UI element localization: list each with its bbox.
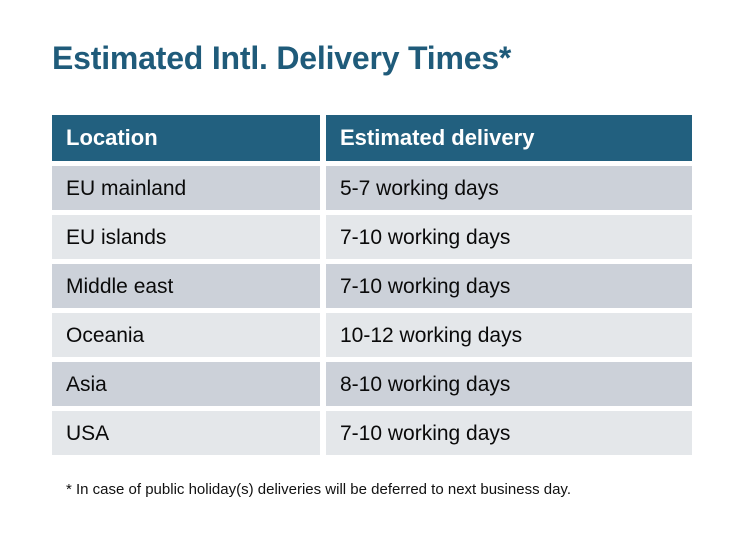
cell-location: USA [52,411,320,455]
table-row: EU islands 7-10 working days [52,215,692,259]
delivery-times-table: Location Estimated delivery EU mainland … [52,115,692,455]
footnote-text: * In case of public holiday(s) deliverie… [66,480,571,500]
cell-location: Asia [52,362,320,406]
cell-delivery: 10-12 working days [326,313,692,357]
table-row: Oceania 10-12 working days [52,313,692,357]
table-row: USA 7-10 working days [52,411,692,455]
delivery-times-page: Estimated Intl. Delivery Times* Location… [0,0,745,536]
column-header-location: Location [52,115,320,161]
table-header-row: Location Estimated delivery [52,115,692,161]
cell-location: Middle east [52,264,320,308]
cell-location: Oceania [52,313,320,357]
cell-location: EU islands [52,215,320,259]
table-row: Asia 8-10 working days [52,362,692,406]
cell-delivery: 7-10 working days [326,411,692,455]
page-title: Estimated Intl. Delivery Times* [52,38,511,78]
table-row: Middle east 7-10 working days [52,264,692,308]
table-row: EU mainland 5-7 working days [52,166,692,210]
cell-delivery: 7-10 working days [326,264,692,308]
cell-delivery: 5-7 working days [326,166,692,210]
column-header-estimated-delivery: Estimated delivery [326,115,692,161]
cell-delivery: 7-10 working days [326,215,692,259]
cell-delivery: 8-10 working days [326,362,692,406]
cell-location: EU mainland [52,166,320,210]
